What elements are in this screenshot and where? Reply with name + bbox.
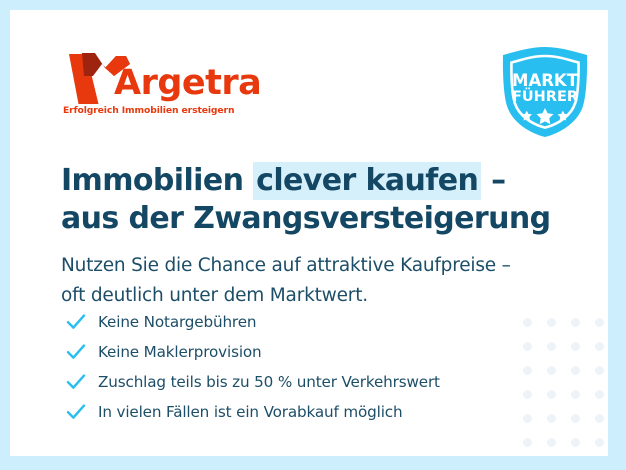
decorative-dot (571, 438, 580, 447)
decorative-dot (547, 318, 556, 327)
checklist-item: Keine Notargebühren (65, 307, 525, 337)
headline-highlight: clever kaufen (253, 162, 481, 200)
checklist-item-label: Keine Maklerprovision (98, 343, 262, 361)
headline-line-2: aus der Zwangsversteigerung (61, 200, 561, 238)
promo-banner: Argetra Erfolgreich Immobilien ersteiger… (0, 0, 626, 470)
decorative-dot (571, 342, 580, 351)
banner-card: Argetra Erfolgreich Immobilien ersteiger… (10, 10, 608, 456)
checklist-item-label: Zuschlag teils bis zu 50 % unter Verkehr… (98, 373, 440, 391)
argetra-logo: Argetra Erfolgreich Immobilien ersteiger… (62, 52, 252, 120)
logo-wordmark: Argetra (114, 66, 261, 101)
check-icon (65, 341, 87, 363)
headline-prefix: Immobilien (61, 163, 253, 198)
check-icon (65, 371, 87, 393)
check-icon (65, 401, 87, 423)
checklist-item: In vielen Fällen ist ein Vorabkauf mögli… (65, 397, 525, 427)
check-icon (65, 311, 87, 333)
decorative-dot (547, 342, 556, 351)
decorative-dot (595, 366, 604, 375)
benefits-checklist: Keine NotargebührenKeine Maklerprovision… (65, 307, 525, 427)
subheading: Nutzen Sie die Chance auf attraktive Kau… (61, 251, 581, 311)
subheading-line-2: oft deutlich unter dem Marktwert. (61, 281, 581, 311)
subheading-line-1: Nutzen Sie die Chance auf attraktive Kau… (61, 251, 581, 281)
decorative-dot (571, 318, 580, 327)
decorative-dot (547, 414, 556, 423)
decorative-dot (595, 438, 604, 447)
logo-tagline: Erfolgreich Immobilien ersteigern (63, 105, 234, 116)
decorative-dot (571, 390, 580, 399)
decorative-dot (571, 366, 580, 375)
decorative-dot (595, 318, 604, 327)
checklist-item: Keine Maklerprovision (65, 337, 525, 367)
decorative-dot (595, 390, 604, 399)
decorative-dot (595, 414, 604, 423)
decorative-dot (547, 390, 556, 399)
decorative-dot (547, 366, 556, 375)
badge-line-1: MARKT (512, 71, 579, 90)
badge-line-2: FÜHRER (512, 87, 578, 105)
headline-line-1: Immobilien clever kaufen – (61, 162, 561, 200)
headline: Immobilien clever kaufen – aus der Zwang… (61, 162, 561, 238)
checklist-item-label: In vielen Fällen ist ein Vorabkauf mögli… (98, 403, 403, 421)
decorative-dot (595, 342, 604, 351)
checklist-item-label: Keine Notargebühren (98, 313, 256, 331)
decorative-dot (571, 414, 580, 423)
decorative-dot (523, 438, 532, 447)
headline-suffix: – (481, 163, 505, 198)
decorative-dot (547, 438, 556, 447)
decorative-dot-grid (515, 310, 608, 456)
checklist-item: Zuschlag teils bis zu 50 % unter Verkehr… (65, 367, 525, 397)
market-leader-badge-icon: MARKT FÜHRER (497, 44, 593, 140)
